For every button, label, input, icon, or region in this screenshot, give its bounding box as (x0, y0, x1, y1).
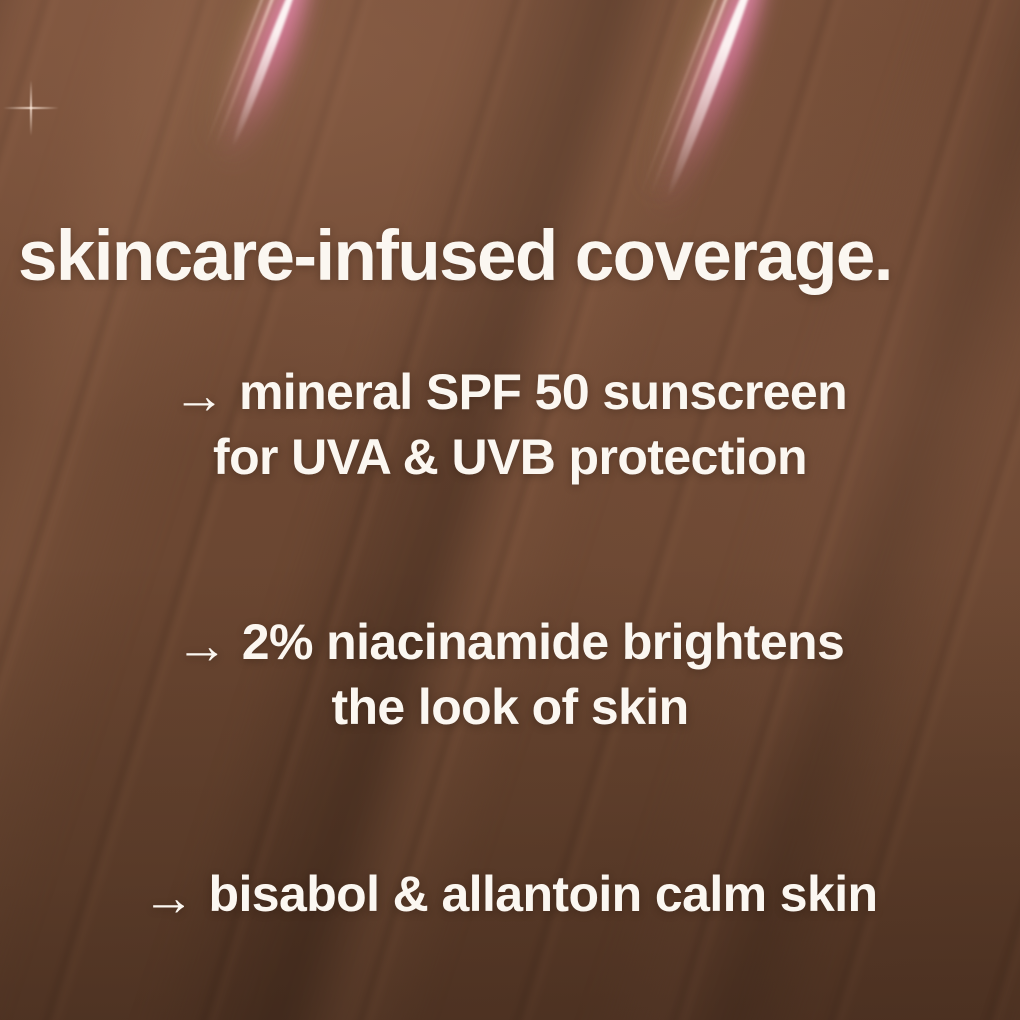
list-item-line-2: the look of skin (0, 675, 1020, 740)
list-item-line-1: mineral SPF 50 sunscreen (239, 364, 847, 420)
slide-content: skincare-infused coverage. →mineral SPF … (0, 0, 1020, 1020)
list-item-line-1: 2% niacinamide brightens (242, 614, 844, 670)
list-item-line-2: for UVA & UVB protection (0, 425, 1020, 490)
list-item: →2% niacinamide brightens the look of sk… (0, 610, 1020, 740)
list-item: →bisabol & allantoin calm skin (0, 862, 1020, 927)
arrow-right-icon: → (173, 370, 225, 422)
headline: skincare-infused coverage. (18, 216, 1008, 298)
list-item: →mineral SPF 50 sunscreen for UVA & UVB … (0, 360, 1020, 490)
benefit-list: →mineral SPF 50 sunscreen for UVA & UVB … (0, 360, 1020, 927)
arrow-right-icon: → (176, 620, 228, 672)
product-marketing-slide: skincare-infused coverage. →mineral SPF … (0, 0, 1020, 1020)
list-item-line-1: bisabol & allantoin calm skin (209, 866, 878, 922)
arrow-right-icon: → (143, 872, 195, 924)
